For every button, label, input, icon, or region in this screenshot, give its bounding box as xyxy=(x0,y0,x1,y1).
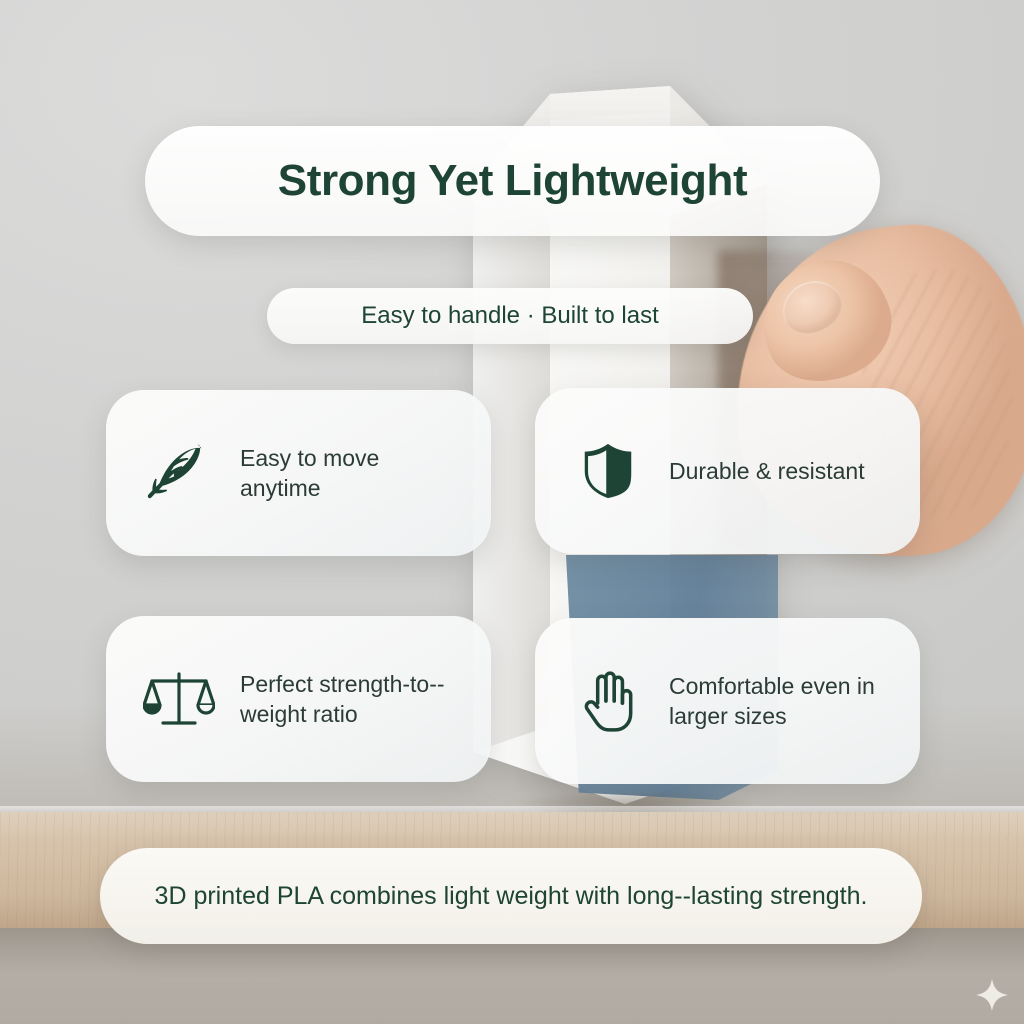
footer-text: 3D printed PLA combines light weight wit… xyxy=(155,880,868,913)
feature-card-label: Easy to move anytime xyxy=(240,443,465,504)
feature-card-label: Durable & resistant xyxy=(669,456,865,486)
balance-scale-icon xyxy=(140,660,218,738)
feature-card-label: Comfortable even in larger sizes xyxy=(669,671,894,732)
feature-card-durable[interactable]: Durable & resistant xyxy=(535,388,920,554)
feature-card-label: Perfect strength-to--weight ratio xyxy=(240,669,465,730)
feather-icon xyxy=(140,434,218,512)
open-hand-icon xyxy=(569,662,647,740)
shield-icon xyxy=(569,432,647,510)
poster-canvas: Strong Yet Lightweight Easy to handle · … xyxy=(0,0,1024,1024)
feature-card-comfortable[interactable]: Comfortable even in larger sizes xyxy=(535,618,920,784)
feature-card-strength-to-weight[interactable]: Perfect strength-to--weight ratio xyxy=(106,616,491,782)
footer-pill: 3D printed PLA combines light weight wit… xyxy=(100,848,922,944)
feature-card-easy-to-move[interactable]: Easy to move anytime xyxy=(106,390,491,556)
